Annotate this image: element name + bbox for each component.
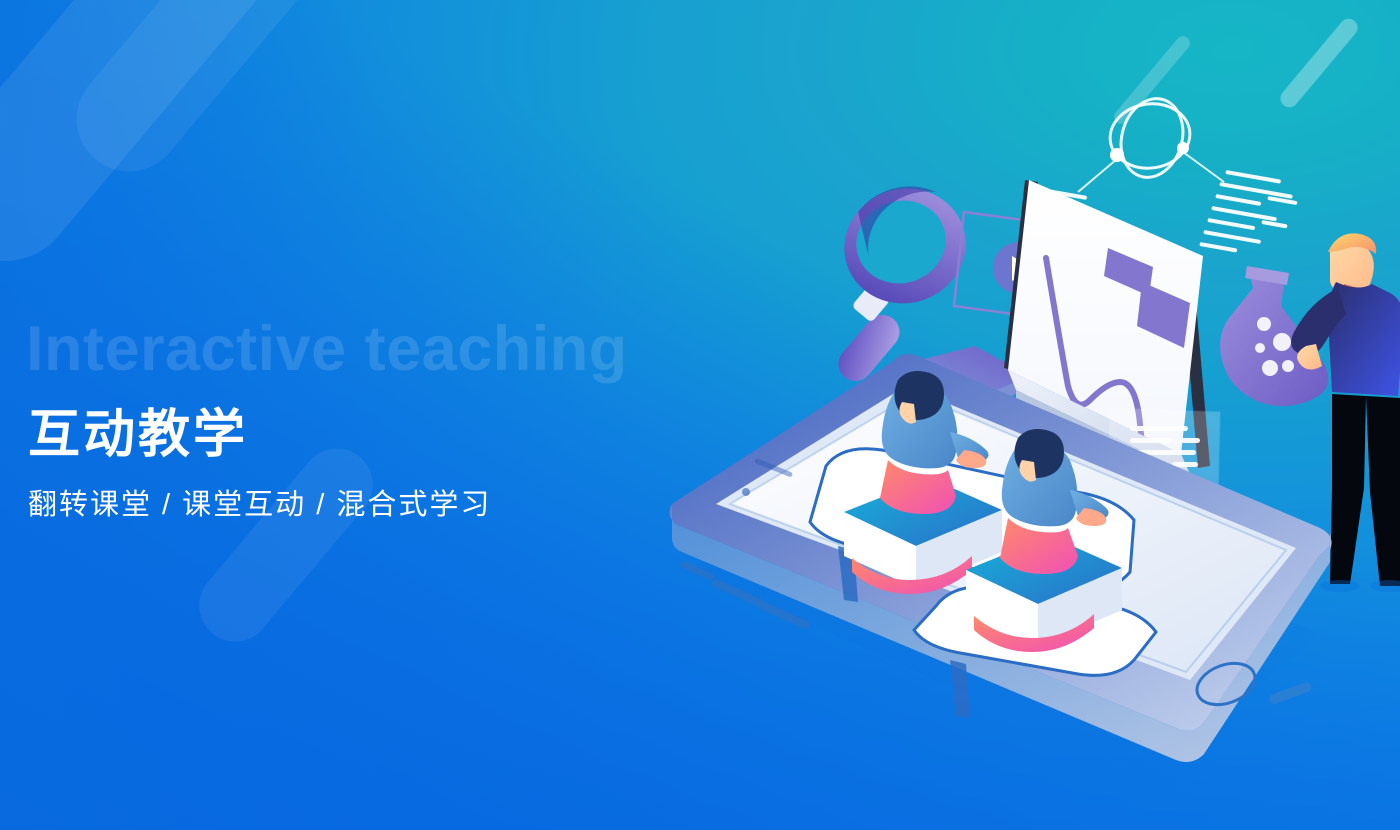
deco-bar-medium [55,0,470,193]
atom-orbit-icon [1078,91,1224,192]
banner-root: Interactive teaching 互动教学 翻转课堂 / 课堂互动 / … [0,0,1400,830]
tablet-camera [742,488,750,496]
illustration [630,60,1400,800]
text-lines-right [1199,170,1297,253]
deco-bar-large [0,0,374,289]
tablet-bottom-port [1268,681,1313,705]
